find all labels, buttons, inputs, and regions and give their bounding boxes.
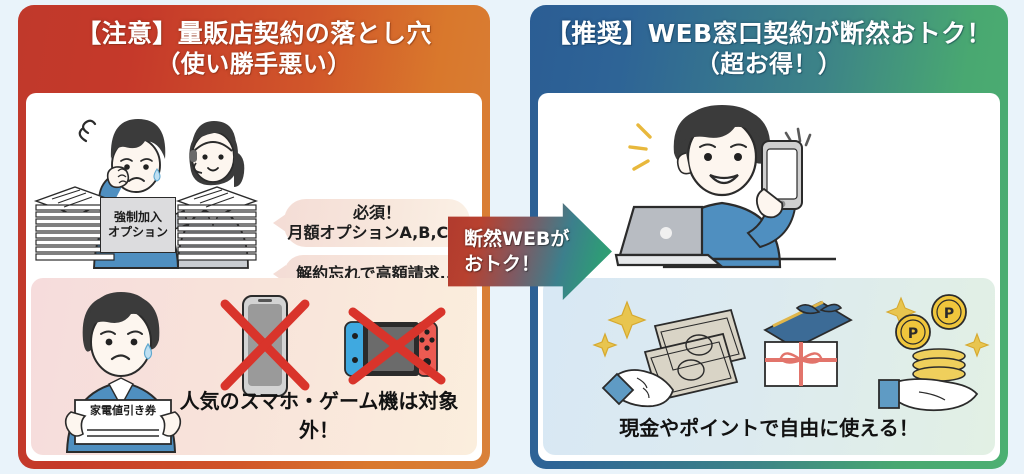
left-bottom-box: 家電値引き券 bbox=[31, 278, 477, 455]
sign-line1: 強制加入 bbox=[114, 210, 162, 225]
right-title-line1: 【推奨】WEB窓口契約が断然おトク！ bbox=[546, 19, 992, 50]
sign-line2: オプション bbox=[108, 225, 168, 240]
happy-man-with-laptop-icon bbox=[616, 97, 836, 267]
point-coin-label-1: P bbox=[944, 306, 954, 322]
left-panel-body: 強制加入 オプション 必須！ 月額オプションA,B,C... 解約忘れで高額請求… bbox=[26, 93, 482, 461]
right-panel-title: 【推奨】WEB窓口契約が断然おトク！ （超お得！） bbox=[530, 5, 1008, 93]
right-panel-recommended: 【推奨】WEB窓口契約が断然おトク！ （超お得！） bbox=[530, 5, 1008, 469]
right-bottom-box: P P 現金やポイントで自由に使え bbox=[543, 278, 995, 455]
left-caption: 人気のスマホ・ゲーム機は対象外！ bbox=[31, 385, 477, 443]
right-caption: 現金やポイントで自由に使える！ bbox=[543, 412, 995, 441]
hand-with-cash-icon bbox=[593, 296, 753, 412]
left-bubble-1-line2: 月額オプションA,B,C... bbox=[287, 223, 466, 243]
right-top-illustration bbox=[538, 93, 1000, 268]
left-bubble-1-line1: 必須！ bbox=[353, 203, 401, 223]
arrow-line1: 断然WEBが bbox=[464, 227, 569, 252]
left-title-line1: 【注意】量販店契約の落とし穴 bbox=[76, 19, 432, 50]
paper-stack-right-icon bbox=[174, 185, 260, 263]
left-panel-title: 【注意】量販店契約の落とし穴 （使い勝手悪い） bbox=[18, 5, 490, 93]
left-title-line2: （使い勝手悪い） bbox=[156, 50, 351, 79]
right-panel-body: オプション条件なし！ シンプル契約！ 高額現金還元！ （キャッシュバック） bbox=[538, 93, 1000, 461]
left-panel-caution: 【注意】量販店契約の落とし穴 （使い勝手悪い） bbox=[18, 5, 490, 469]
right-title-line2: （超お得！） bbox=[696, 50, 842, 79]
arrow-line2: おトク！ bbox=[464, 252, 540, 277]
left-bubble-1: 必須！ 月額オプションA,B,C... bbox=[284, 199, 470, 247]
forced-option-sign: 強制加入 オプション bbox=[100, 197, 176, 253]
game-console-excluded-icon bbox=[331, 306, 451, 392]
infographic-root: 【注意】量販店契約の落とし穴 （使い勝手悪い） bbox=[0, 0, 1024, 474]
hand-with-point-coins-icon: P P bbox=[873, 290, 993, 414]
point-coin-label-2: P bbox=[908, 326, 918, 342]
gift-box-icon bbox=[759, 300, 855, 392]
